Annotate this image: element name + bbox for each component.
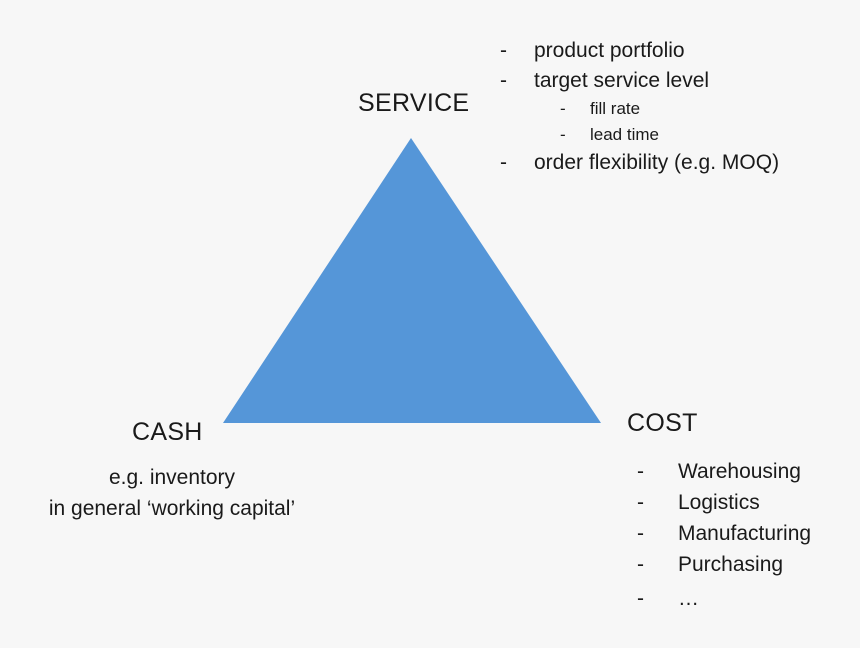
service-bullet-list: - product portfolio - target service lev…: [500, 36, 779, 178]
bullet-label: order flexibility (e.g. MOQ): [534, 148, 779, 178]
cost-corner-label: COST: [627, 409, 698, 438]
list-item: - target service level: [500, 66, 779, 96]
bullet-dash: -: [637, 583, 678, 614]
bullet-label: Warehousing: [678, 456, 801, 487]
bullet-dash: -: [500, 148, 534, 178]
list-item: - order flexibility (e.g. MOQ): [500, 148, 779, 178]
bullet-dash: -: [560, 96, 590, 122]
list-item: - fill rate: [500, 96, 779, 122]
bullet-dash: -: [560, 122, 590, 148]
list-item: - Warehousing: [637, 456, 811, 487]
list-item: - product portfolio: [500, 36, 779, 66]
cash-note-line: e.g. inventory: [22, 462, 322, 493]
bullet-label: lead time: [590, 122, 659, 148]
cost-bullet-list: - Warehousing - Logistics - Manufacturin…: [637, 456, 811, 614]
list-item: - Manufacturing: [637, 518, 811, 549]
bullet-label: Purchasing: [678, 549, 783, 580]
bullet-dash: -: [637, 549, 678, 580]
bullet-dash: -: [637, 456, 678, 487]
bullet-label: product portfolio: [534, 36, 685, 66]
list-item: - lead time: [500, 122, 779, 148]
bullet-dash: -: [500, 36, 534, 66]
bullet-label: Manufacturing: [678, 518, 811, 549]
list-item: - Purchasing: [637, 549, 811, 580]
bullet-label: …: [678, 583, 699, 614]
blue-triangle-shape: [223, 138, 601, 423]
bullet-label: Logistics: [678, 487, 760, 518]
service-corner-label: SERVICE: [358, 89, 469, 118]
cash-corner-label: CASH: [132, 418, 203, 447]
list-item: - Logistics: [637, 487, 811, 518]
diagram-canvas: SERVICE - product portfolio - target ser…: [0, 0, 860, 648]
cash-note: e.g. inventory in general ‘working capit…: [22, 462, 322, 524]
bullet-label: target service level: [534, 66, 709, 96]
bullet-dash: -: [500, 66, 534, 96]
bullet-label: fill rate: [590, 96, 640, 122]
list-item: - …: [637, 583, 811, 614]
bullet-dash: -: [637, 518, 678, 549]
bullet-dash: -: [637, 487, 678, 518]
cash-note-line: in general ‘working capital’: [22, 493, 322, 524]
